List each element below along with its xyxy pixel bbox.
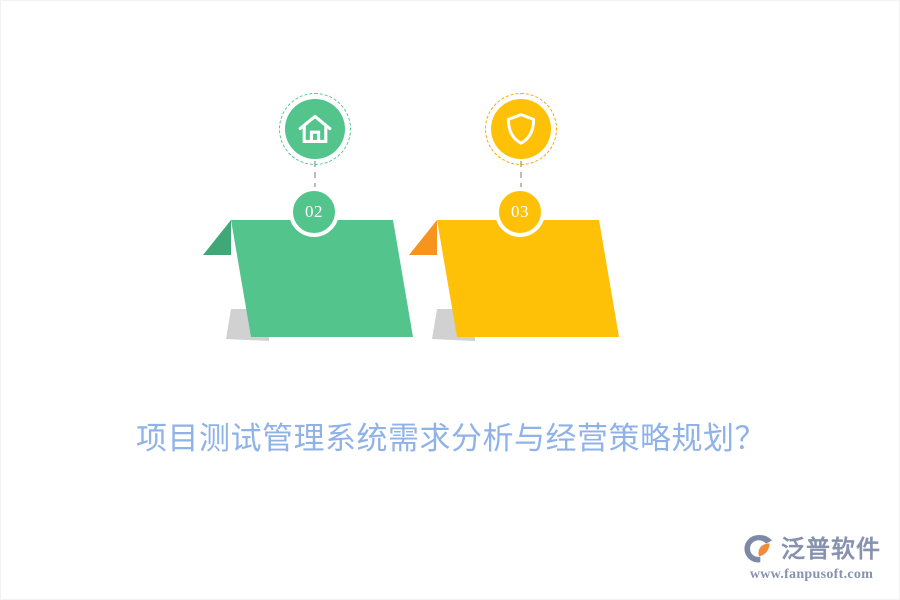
step-number-badge-03[interactable]: 03 — [495, 187, 545, 237]
watermark-row: 泛普软件 — [742, 534, 881, 564]
icon-circle-03 — [491, 99, 551, 159]
banner-fold-green — [203, 220, 231, 255]
banner-body-yellow — [437, 220, 619, 337]
step-number-text-03: 03 — [511, 203, 529, 221]
icon-node-03[interactable] — [485, 93, 557, 165]
banner-shadow-green — [226, 309, 269, 341]
connector-line-03 — [520, 161, 522, 189]
banner-shapes — [1, 1, 900, 600]
shield-icon — [505, 112, 537, 146]
icon-node-02[interactable] — [279, 93, 351, 165]
connector-line-02 — [314, 161, 316, 189]
banner-fold-yellow — [409, 220, 437, 255]
banner-body-green — [231, 220, 413, 337]
step-number-text-02: 02 — [305, 203, 323, 221]
watermark-url: www.fanpusoft.com — [750, 567, 873, 583]
icon-circle-02 — [285, 99, 345, 159]
watermark-logo: 泛普软件 www.fanpusoft.com — [742, 534, 881, 583]
fanpu-logo-mark-icon — [742, 534, 776, 564]
banner-shadow-yellow — [432, 309, 475, 341]
step-number-badge-02[interactable]: 02 — [289, 187, 339, 237]
page-title: 项目测试管理系统需求分析与经营策略规划？ — [1, 420, 900, 459]
watermark-brand: 泛普软件 — [781, 537, 881, 561]
home-icon — [298, 113, 332, 145]
infographic-canvas: 02 03 项目测试管理系统需求分析与经营策略规划？ 泛普软件 www.fanp… — [0, 0, 900, 600]
